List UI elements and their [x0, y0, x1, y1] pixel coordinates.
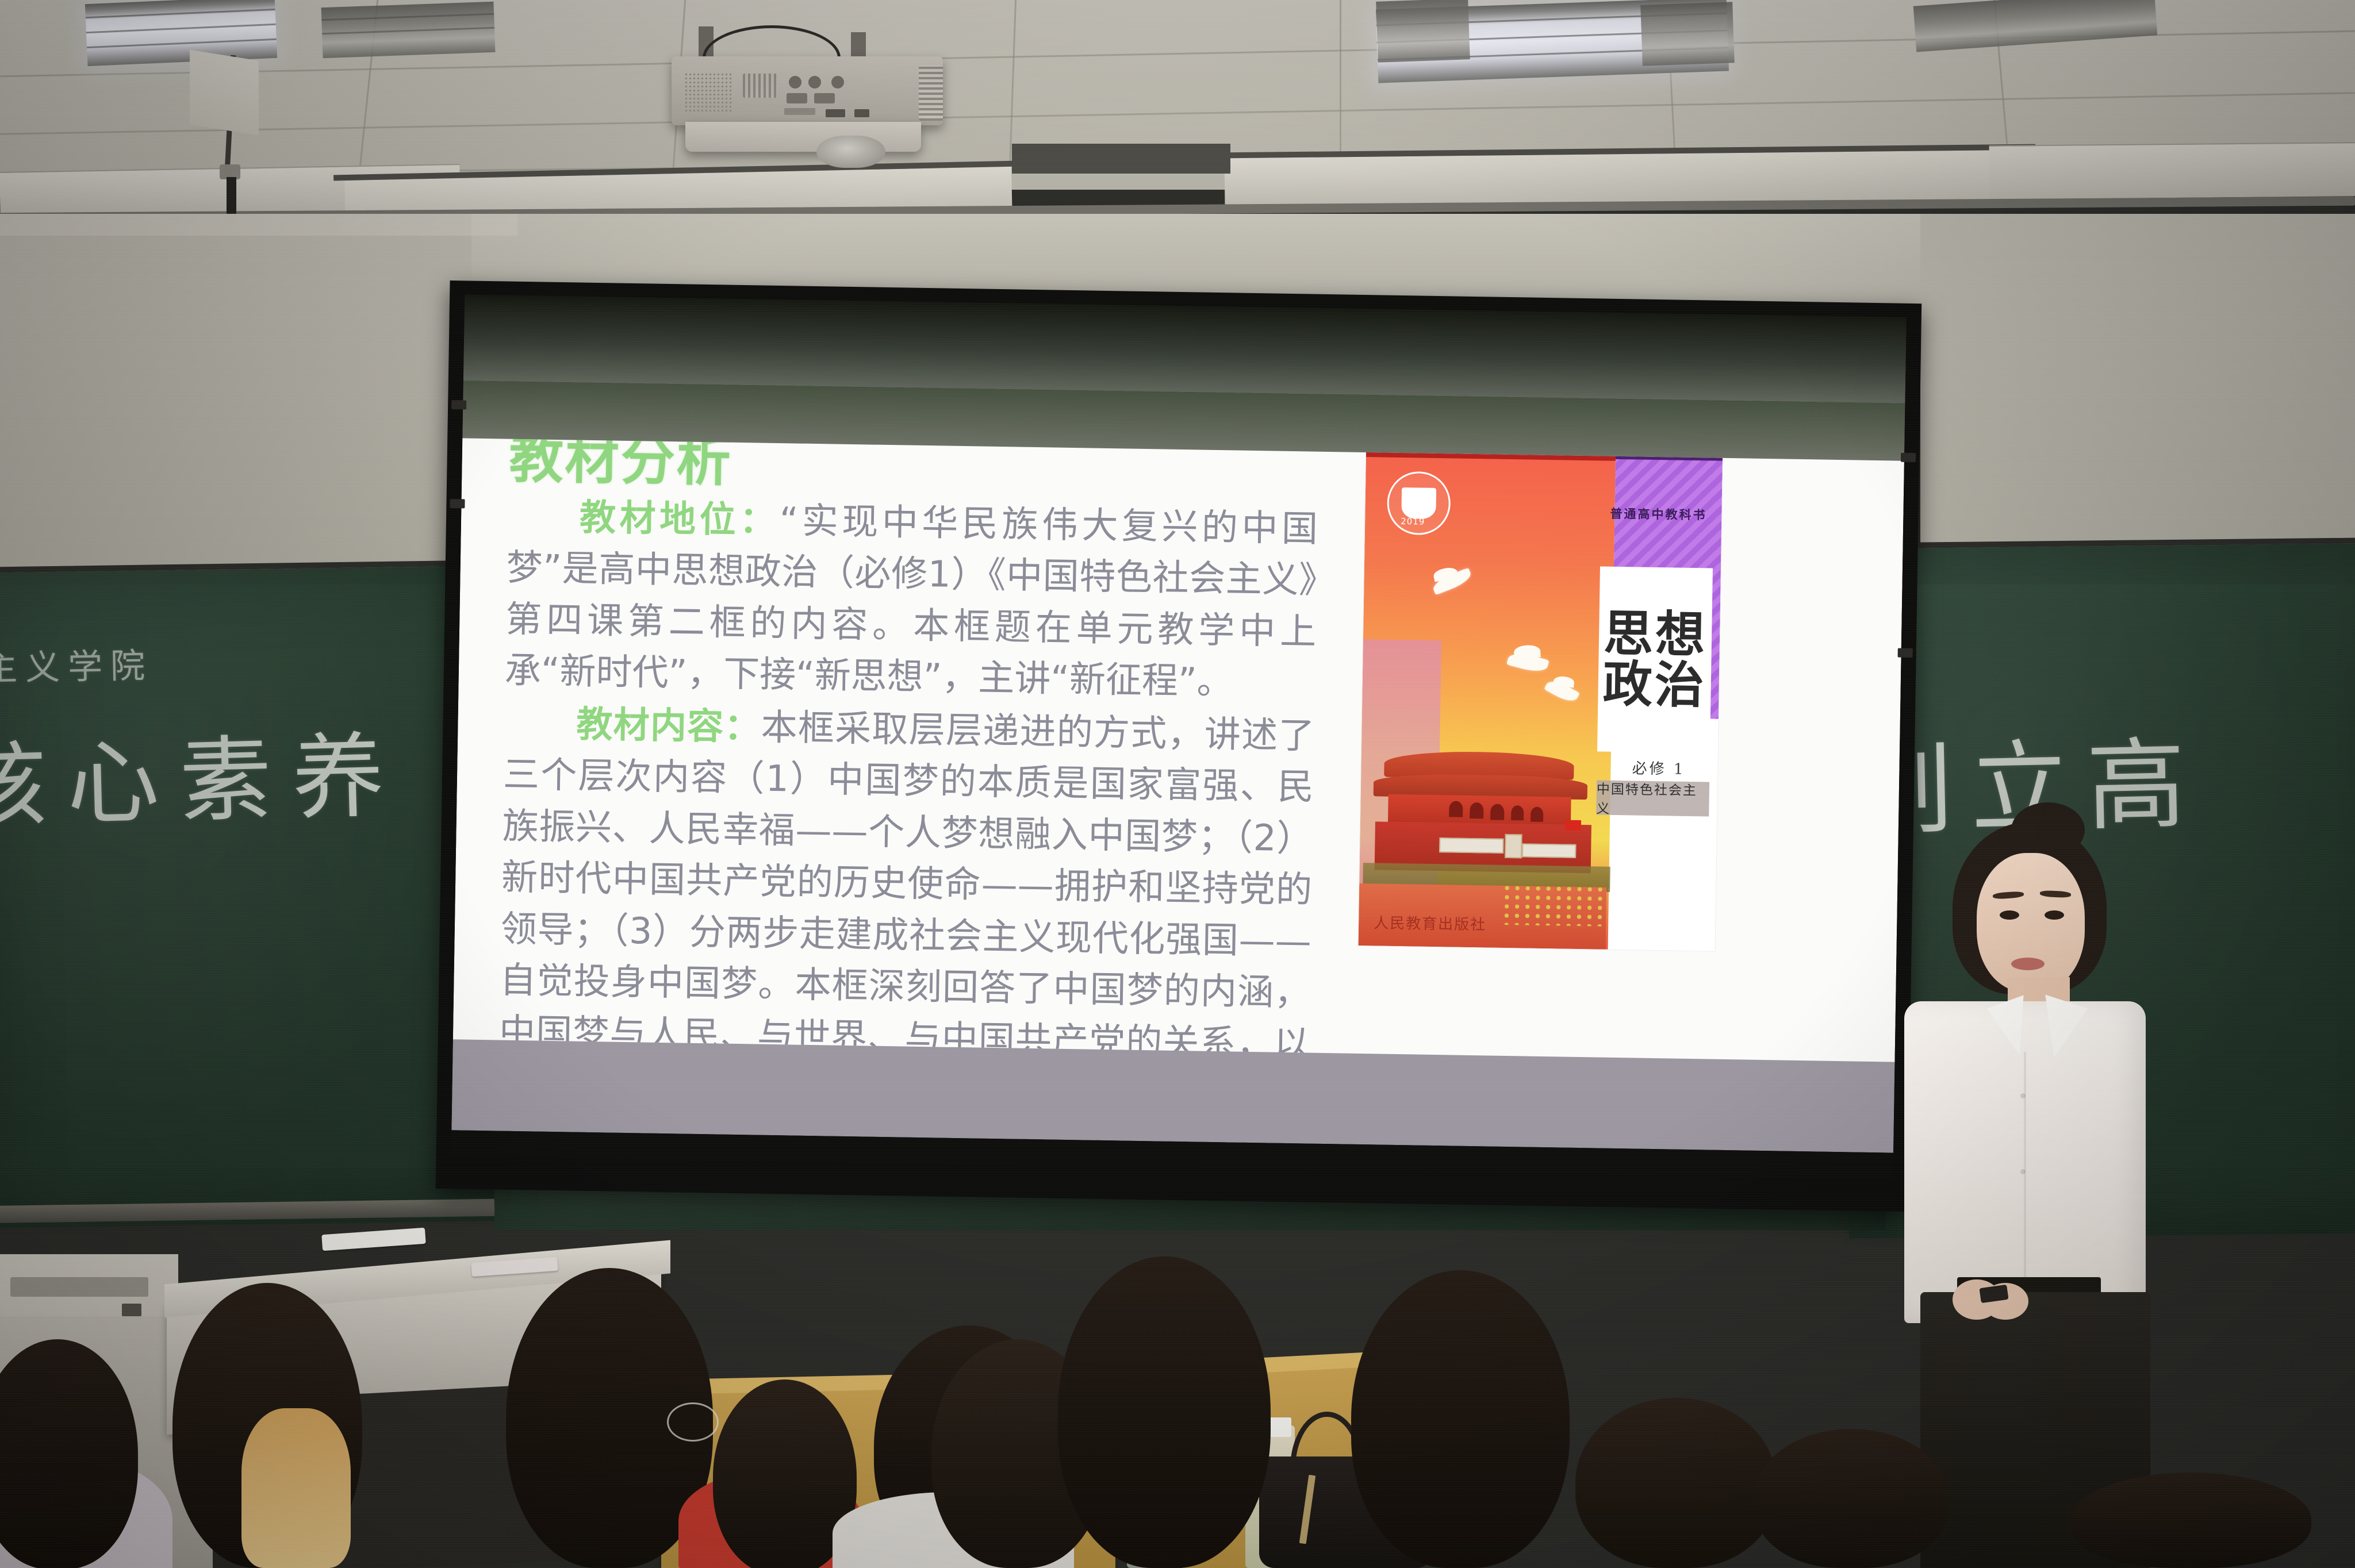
book-publisher: 人民教育出版社 [1374, 911, 1487, 934]
screen-hook [450, 499, 465, 508]
audience-head [1754, 1429, 1949, 1568]
blackboard-left-top-text: 主义学院 [0, 637, 154, 690]
screen-hook [451, 400, 466, 409]
presenter-eye [2045, 910, 2064, 920]
cabinet-indicator [122, 1304, 141, 1316]
projection-screen-frame: 教材分析 教材地位：“实现中华民族伟大复兴的中国梦”是高中思想政治（必修1）《中… [436, 280, 1922, 1212]
book-title-box: 思想政治 [1597, 566, 1713, 753]
slide-title: 教材分析 [509, 438, 733, 496]
slide-paragraph-lead: 教材地位： [580, 497, 780, 541]
gate-banner-right [1522, 843, 1576, 858]
ceiling-light-fixture [321, 2, 496, 58]
presenter-face [1977, 853, 2085, 992]
projector-lens [816, 136, 885, 168]
ceiling-recess [1012, 144, 1230, 174]
mic-ceiling-bracket [190, 49, 259, 135]
book-volume: 必修 1 [1632, 756, 1685, 778]
whiteboard-marker [321, 1228, 426, 1251]
ceiling-light-fixture [85, 0, 277, 66]
presenter-shirt-button [2020, 1169, 2026, 1174]
slide-paragraph-text: 本框采取层层递进的方式，讲述了三个层次内容（1）中国梦的本质是国家富强、民族振兴… [498, 706, 1315, 1062]
presenter-mouth [2011, 958, 2045, 970]
audience-glasses [667, 1402, 719, 1442]
book-subject-band: 中国特色社会主义 [1596, 780, 1709, 816]
slide-paragraph-lead: 教材内容： [576, 703, 761, 748]
book-flowerbed [1501, 883, 1609, 927]
projector-mount [851, 32, 866, 59]
textbook-cover-image: 2019 普通高中教科书 思想政治 必修 1 中国特色社会主义 [1359, 451, 1723, 951]
screen-hook [1898, 648, 1913, 658]
wall-trim [0, 214, 517, 236]
ceiling-beam [1989, 142, 2355, 199]
audience-head [2070, 1473, 2311, 1568]
gate-portrait [1505, 834, 1522, 858]
wall-left [0, 214, 494, 593]
slide: 教材分析 教材地位：“实现中华民族伟大复兴的中国梦”是高中思想政治（必修1）《中… [453, 438, 1904, 1062]
presenter-shirt-placket [2024, 1052, 2026, 1282]
presenter-eye [2000, 910, 2019, 920]
presenter-shirt-button [2020, 1093, 2026, 1098]
book-series-label: 普通高中教科书 [1610, 505, 1706, 524]
projector [672, 56, 943, 125]
audience-head [1351, 1270, 1570, 1568]
classroom-scene: 20:12:40 主义学院 核心素养 创立高 教材分析 教材地位：“实现中华民族… [0, 0, 2355, 1568]
book-title: 思想政治 [1598, 609, 1712, 711]
seal-year: 2019 [1401, 516, 1425, 527]
projection-screen: 教材分析 教材地位：“实现中华民族伟大复兴的中国梦”是高中思想政治（必修1）《中… [451, 294, 1907, 1179]
audience-head [1575, 1398, 1777, 1568]
ceiling-light-fixture [1640, 2, 1735, 66]
gate-banner-left [1439, 837, 1503, 854]
ceiling-light-fixture [1376, 0, 1470, 63]
slide-paragraph: 教材地位：“实现中华民族伟大复兴的中国梦”是高中思想政治（必修1）《中国特色社会… [504, 491, 1318, 709]
slide-paragraph: 教材内容：本框采取层层递进的方式，讲述了三个层次内容（1）中国梦的本质是国家富强… [498, 697, 1315, 1062]
projector-base [685, 122, 921, 152]
slide-body: 教材地位：“实现中华民族伟大复兴的中国梦”是高中思想政治（必修1）《中国特色社会… [498, 491, 1318, 1062]
screen-hook [1901, 453, 1916, 462]
audience-head [1058, 1256, 1271, 1568]
audience-hair-highlight [241, 1408, 351, 1568]
blackboard-left-main-text: 核心素养 [0, 701, 406, 846]
cabinet-slot [10, 1277, 148, 1297]
